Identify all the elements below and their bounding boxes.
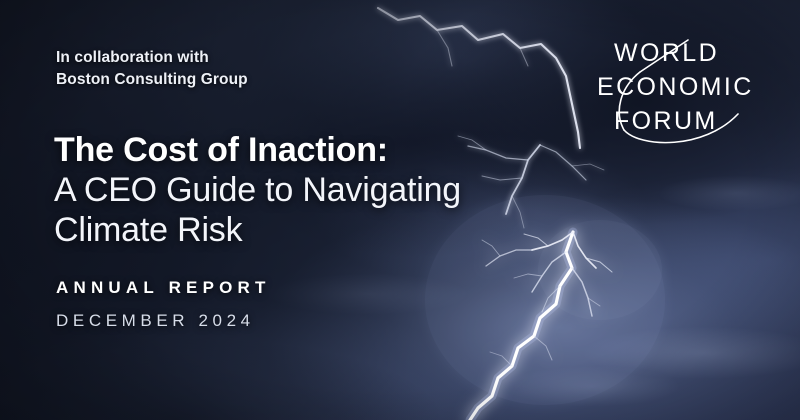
report-title: The Cost of Inaction: A CEO Guide to Nav… [54, 131, 461, 250]
wef-logo-line-2: ECONOMIC [597, 73, 754, 101]
report-cover: In collaboration with Boston Consulting … [0, 0, 800, 420]
report-meta: ANNUAL REPORT DECEMBER 2024 [56, 278, 271, 331]
report-date: DECEMBER 2024 [56, 311, 271, 331]
report-type-label: ANNUAL REPORT [56, 278, 271, 298]
title-line-2: A CEO Guide to Navigating [54, 171, 461, 211]
collaboration-line-1: In collaboration with [56, 47, 248, 69]
title-line-1: The Cost of Inaction: [54, 131, 461, 171]
title-line-3: Climate Risk [54, 211, 461, 251]
wef-logo-line-1: WORLD [614, 39, 719, 67]
world-economic-forum-logo: WORLD ECONOMIC FORUM [596, 38, 766, 150]
collaboration-partner: Boston Consulting Group [56, 69, 248, 91]
collaboration-credit: In collaboration with Boston Consulting … [56, 47, 248, 92]
wef-logo-line-3: FORUM [614, 107, 718, 135]
